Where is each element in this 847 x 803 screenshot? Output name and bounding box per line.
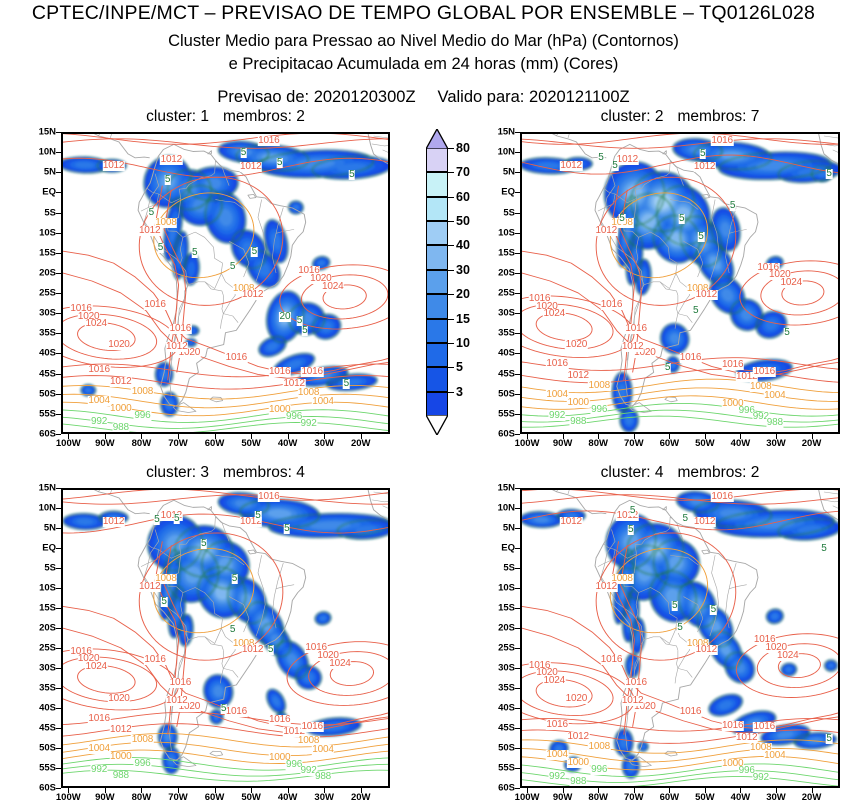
y-axis-tick xyxy=(56,788,61,789)
isobar-label-1016: 1016 xyxy=(88,365,110,375)
y-axis-label-15N: 15N xyxy=(39,127,56,138)
panel-title-cluster-2: cluster: 2membros: 7 xyxy=(520,108,840,126)
x-axis-label-100W: 100W xyxy=(515,792,540,803)
colorbar-label-30: 30 xyxy=(456,263,470,277)
x-axis-label-100W: 100W xyxy=(56,792,81,803)
colorbar-band-5 xyxy=(426,367,448,391)
colorbar-label-80: 80 xyxy=(456,141,470,155)
isobar-label-1016: 1016 xyxy=(258,492,280,502)
y-axis-label-20S: 20S xyxy=(498,623,515,634)
y-axis-label-10N: 10N xyxy=(39,503,56,514)
colorbar-tick xyxy=(448,343,454,344)
y-axis-label-20S: 20S xyxy=(39,623,56,634)
map-canvas xyxy=(63,490,388,786)
x-axis-label-40W: 40W xyxy=(278,792,298,803)
isobar-label-1016: 1016 xyxy=(721,360,743,370)
cluster-label: cluster: 4 xyxy=(601,464,664,481)
isobar-label-1020: 1020 xyxy=(108,694,130,704)
isobar-label-1004: 1004 xyxy=(88,744,110,754)
y-axis-label-EQ: EQ xyxy=(501,187,515,198)
y-axis-label-35S: 35S xyxy=(498,328,515,339)
y-axis-label-15S: 15S xyxy=(39,603,56,614)
isobar-label-1016: 1016 xyxy=(144,655,166,665)
y-axis-label-60S: 60S xyxy=(39,429,56,440)
isobar-label-1000: 1000 xyxy=(110,752,132,762)
y-axis-tick xyxy=(515,394,520,395)
isobar-label-1008: 1008 xyxy=(131,735,153,745)
chart-subtitle-line2: e Precipitacao Acumulada em 24 horas (mm… xyxy=(0,55,847,74)
map-panel-cluster-4: cluster: 4membros: 210161016101210121008… xyxy=(520,488,840,788)
precip-contour-label: 5 xyxy=(629,506,636,516)
y-axis-label-35S: 35S xyxy=(39,683,56,694)
precip-contour-label: 5 xyxy=(349,170,356,180)
institution-title: CPTEC/INPE/MCT – PREVISAO DE TEMPO GLOBA… xyxy=(0,2,847,25)
x-axis-label-30W: 30W xyxy=(766,792,786,803)
y-axis-tick xyxy=(56,748,61,749)
precip-contour-label: 5 xyxy=(267,645,274,655)
isobar-label-1020: 1020 xyxy=(108,340,130,350)
isobar-label-1016: 1016 xyxy=(268,367,290,377)
y-axis-tick xyxy=(515,333,520,334)
forecast-time-line: Previsao de: 2020120300ZValido para: 202… xyxy=(0,88,847,107)
precip-contour-label: 5 xyxy=(678,214,685,224)
precip-contour-label: 5 xyxy=(255,511,262,521)
y-axis-label-10N: 10N xyxy=(39,147,56,158)
x-axis-label-50W: 50W xyxy=(241,438,261,449)
y-axis-tick xyxy=(56,588,61,589)
y-axis-tick xyxy=(56,434,61,435)
x-axis-label-40W: 40W xyxy=(731,438,751,449)
isobar-label-992: 992 xyxy=(91,765,108,775)
colorbar-tick xyxy=(448,392,454,393)
x-axis-label-70W: 70W xyxy=(624,792,644,803)
x-axis-label-70W: 70W xyxy=(624,438,644,449)
isobar-label-1016: 1016 xyxy=(600,300,622,310)
y-axis-tick xyxy=(515,568,520,569)
x-axis-label-90W: 90W xyxy=(95,438,115,449)
colorbar-arrow-bottom xyxy=(426,415,448,435)
members-label: membros: 4 xyxy=(223,464,305,481)
x-axis-label-70W: 70W xyxy=(168,438,188,449)
y-axis-tick xyxy=(56,488,61,489)
colorbar-band-80 xyxy=(426,148,448,172)
isobar-label-1008: 1008 xyxy=(588,742,610,752)
colorbar-tick xyxy=(448,148,454,149)
y-axis-tick xyxy=(515,414,520,415)
isobar-label-988: 988 xyxy=(570,417,587,427)
y-axis-label-15N: 15N xyxy=(498,127,515,138)
isobar-label-1004: 1004 xyxy=(312,397,334,407)
isobar-label-1012: 1012 xyxy=(621,696,643,706)
precip-contour-label: 5 xyxy=(229,625,236,635)
precip-contour-label: 5 xyxy=(302,326,309,336)
colorbar-tick xyxy=(448,172,454,173)
isobar-label-1012: 1012 xyxy=(595,582,617,592)
precip-contour-label: 5 xyxy=(698,232,705,242)
isobar-label-1012: 1012 xyxy=(110,725,132,735)
precip-contour-label: 5 xyxy=(729,201,736,211)
precip-contour-label: 5 xyxy=(700,149,707,159)
y-axis-label-45S: 45S xyxy=(498,723,515,734)
y-axis-tick xyxy=(515,728,520,729)
colorbar-label-40: 40 xyxy=(456,238,470,252)
map-frame: 1016101610121012100810081004100410001000… xyxy=(520,488,840,788)
y-axis-label-5S: 5S xyxy=(44,563,56,574)
precip-contour-label: 5 xyxy=(276,158,283,168)
isobar-label-988: 988 xyxy=(766,418,783,428)
x-axis-label-20W: 20W xyxy=(802,438,822,449)
y-axis-label-30S: 30S xyxy=(498,308,515,319)
isobar-label-1012: 1012 xyxy=(567,371,589,381)
precip-contour-label: 5 xyxy=(612,161,619,171)
x-axis-label-40W: 40W xyxy=(278,438,298,449)
y-axis-tick xyxy=(56,253,61,254)
colorbar-tick xyxy=(448,319,454,320)
colorbar-label-60: 60 xyxy=(456,190,470,204)
isobar-label-1004: 1004 xyxy=(312,745,334,755)
y-axis-tick xyxy=(515,172,520,173)
colorbar-tick xyxy=(448,197,454,198)
y-axis-label-EQ: EQ xyxy=(42,187,56,198)
isobar-label-1012: 1012 xyxy=(160,155,182,165)
forecast-from-label: Previsao de: 2020120300Z xyxy=(217,88,415,106)
y-axis-label-10S: 10S xyxy=(498,227,515,238)
precip-contour-label: 5 xyxy=(826,169,833,179)
y-axis-tick xyxy=(56,688,61,689)
isobar-label-1016: 1016 xyxy=(258,136,280,146)
isobar-label-1016: 1016 xyxy=(268,715,290,725)
isobar-label-1012: 1012 xyxy=(693,162,715,172)
chart-subtitle-line1: Cluster Medio para Pressao ao Nivel Medi… xyxy=(0,32,847,51)
y-axis-tick xyxy=(515,293,520,294)
isobar-label-1000: 1000 xyxy=(567,758,589,768)
panel-title-cluster-3: cluster: 3membros: 4 xyxy=(61,464,390,482)
panel-title-cluster-1: cluster: 1membros: 2 xyxy=(61,108,390,126)
colorbar-label-10: 10 xyxy=(456,336,470,350)
y-axis-label-50S: 50S xyxy=(498,388,515,399)
colorbar-band-60 xyxy=(426,197,448,221)
isobar-label-1016: 1016 xyxy=(711,492,733,502)
y-axis-label-30S: 30S xyxy=(39,663,56,674)
y-axis-tick xyxy=(56,353,61,354)
y-axis-tick xyxy=(515,748,520,749)
precip-contour-label: 5 xyxy=(173,514,180,524)
y-axis-tick xyxy=(56,394,61,395)
isobar-label-1016: 1016 xyxy=(753,367,775,377)
x-axis-label-40W: 40W xyxy=(731,792,751,803)
isobar-label-1016: 1016 xyxy=(625,678,647,688)
y-axis-label-15S: 15S xyxy=(498,603,515,614)
precip-contour-label: 5 xyxy=(251,247,258,257)
precip-contour-label: 5 xyxy=(164,175,171,185)
y-axis-tick xyxy=(515,434,520,435)
y-axis-tick xyxy=(515,528,520,529)
y-axis-label-55S: 55S xyxy=(39,408,56,419)
y-axis-tick xyxy=(56,152,61,153)
y-axis-label-40S: 40S xyxy=(498,702,515,713)
colorbar-band-50 xyxy=(426,221,448,245)
y-axis-tick xyxy=(515,628,520,629)
y-axis-label-10N: 10N xyxy=(498,503,515,514)
colorbar-band-70 xyxy=(426,172,448,196)
y-axis-tick xyxy=(515,588,520,589)
isobar-label-996: 996 xyxy=(134,759,151,769)
isobar-label-1012: 1012 xyxy=(166,342,188,352)
x-axis-label-30W: 30W xyxy=(314,792,334,803)
precip-contour-label: 5 xyxy=(619,214,626,224)
isobar-label-1004: 1004 xyxy=(546,390,568,400)
isobar-label-1012: 1012 xyxy=(567,732,589,742)
isobar-label-1016: 1016 xyxy=(546,720,568,730)
isobar-label-1016: 1016 xyxy=(600,655,622,665)
isobar-label-1004: 1004 xyxy=(546,750,568,760)
y-axis-label-5S: 5S xyxy=(44,207,56,218)
x-axis-label-60W: 60W xyxy=(660,792,680,803)
y-axis-label-10S: 10S xyxy=(39,582,56,593)
isobar-label-1012: 1012 xyxy=(166,696,188,706)
y-axis-label-40S: 40S xyxy=(39,702,56,713)
colorbar-label-5: 5 xyxy=(456,360,463,374)
isobar-label-1016: 1016 xyxy=(679,707,701,717)
map-panel-cluster-1: cluster: 1membros: 210161016101210121008… xyxy=(61,132,390,434)
isobar-label-1024: 1024 xyxy=(85,662,107,672)
y-axis-label-EQ: EQ xyxy=(42,543,56,554)
x-axis-label-100W: 100W xyxy=(56,438,81,449)
map-frame: 1016101610121012100810081004100410001000… xyxy=(61,132,390,434)
isobar-label-996: 996 xyxy=(591,765,608,775)
members-label: membros: 2 xyxy=(678,464,760,481)
y-axis-label-25S: 25S xyxy=(498,288,515,299)
y-axis-label-50S: 50S xyxy=(39,743,56,754)
y-axis-label-EQ: EQ xyxy=(501,543,515,554)
y-axis-tick xyxy=(515,668,520,669)
isobar-label-992: 992 xyxy=(549,411,566,421)
precip-contour-label: 20 xyxy=(279,312,291,322)
isobar-label-1016: 1016 xyxy=(301,722,323,732)
x-axis-label-50W: 50W xyxy=(695,438,715,449)
y-axis-tick xyxy=(56,548,61,549)
y-axis-label-35S: 35S xyxy=(498,683,515,694)
y-axis-tick xyxy=(56,213,61,214)
map-frame: 1016101610121012100810081004100410001000… xyxy=(61,488,390,788)
y-axis-tick xyxy=(515,253,520,254)
y-axis-label-45S: 45S xyxy=(498,368,515,379)
x-axis-label-20W: 20W xyxy=(351,792,371,803)
precip-contour-label: 5 xyxy=(677,623,684,633)
isobar-label-1024: 1024 xyxy=(543,309,565,319)
x-axis-label-60W: 60W xyxy=(660,438,680,449)
colorbar-label-20: 20 xyxy=(456,287,470,301)
isobar-label-1024: 1024 xyxy=(777,651,799,661)
colorbar-label-15: 15 xyxy=(456,312,470,326)
isobar-label-1016: 1016 xyxy=(301,367,323,377)
y-axis-tick xyxy=(56,668,61,669)
precip-contour-label: 5 xyxy=(192,248,199,258)
precip-contour-label: 5 xyxy=(148,208,155,218)
colorbar-label-50: 50 xyxy=(456,214,470,228)
isobar-label-1012: 1012 xyxy=(138,582,160,592)
cluster-label: cluster: 2 xyxy=(601,108,664,125)
y-axis-label-10S: 10S xyxy=(498,582,515,593)
members-label: membros: 2 xyxy=(223,108,305,125)
isobar-label-1012: 1012 xyxy=(560,517,582,527)
y-axis-tick xyxy=(515,788,520,789)
y-axis-tick xyxy=(515,708,520,709)
precip-contour-label: 5 xyxy=(231,574,238,584)
precip-contour-label: 5 xyxy=(826,734,833,744)
isobar-label-992: 992 xyxy=(300,419,317,429)
colorbar-tick xyxy=(448,221,454,222)
y-axis-label-15N: 15N xyxy=(498,483,515,494)
isobar-label-988: 988 xyxy=(570,777,587,787)
x-axis-label-90W: 90W xyxy=(553,438,573,449)
cluster-label: cluster: 3 xyxy=(146,464,209,481)
precip-contour-label: 5 xyxy=(229,262,236,272)
isobar-label-1016: 1016 xyxy=(144,300,166,310)
y-axis-tick xyxy=(56,648,61,649)
isobar-label-992: 992 xyxy=(91,417,108,427)
y-axis-label-15S: 15S xyxy=(498,247,515,258)
precip-contour-label: 5 xyxy=(710,605,717,615)
x-axis-label-30W: 30W xyxy=(314,438,334,449)
colorbar-label-70: 70 xyxy=(456,165,470,179)
isobar-label-1012: 1012 xyxy=(110,377,132,387)
y-axis-tick xyxy=(56,708,61,709)
isobar-label-1016: 1016 xyxy=(546,359,568,369)
isobar-label-1012: 1012 xyxy=(241,645,263,655)
y-axis-tick xyxy=(56,132,61,133)
y-axis-tick xyxy=(515,688,520,689)
precip-contour-label: 5 xyxy=(682,514,689,524)
precip-contour-label: 5 xyxy=(784,328,791,338)
y-axis-tick xyxy=(56,233,61,234)
isobar-label-1012: 1012 xyxy=(621,342,643,352)
precip-contour-label: 5 xyxy=(671,601,678,611)
isobar-label-1008: 1008 xyxy=(588,381,610,391)
precipitation-colorbar: 35101520304050607080 xyxy=(426,148,448,416)
y-axis-label-25S: 25S xyxy=(498,642,515,653)
y-axis-tick xyxy=(515,608,520,609)
y-axis-label-30S: 30S xyxy=(39,308,56,319)
isobar-label-1012: 1012 xyxy=(693,517,715,527)
isobar-label-1024: 1024 xyxy=(329,659,351,669)
y-axis-tick xyxy=(515,273,520,274)
y-axis-tick xyxy=(515,313,520,314)
x-axis-label-80W: 80W xyxy=(132,792,152,803)
isobar-label-1012: 1012 xyxy=(102,517,124,527)
isobar-label-1004: 1004 xyxy=(764,391,786,401)
y-axis-label-10N: 10N xyxy=(498,147,515,158)
isobar-label-1016: 1016 xyxy=(88,714,110,724)
y-axis-tick xyxy=(56,568,61,569)
precip-contour-label: 5 xyxy=(157,243,164,253)
x-axis-label-80W: 80W xyxy=(588,792,608,803)
colorbar-tick xyxy=(448,270,454,271)
y-axis-label-25S: 25S xyxy=(39,642,56,653)
y-axis-label-35S: 35S xyxy=(39,328,56,339)
isobar-label-988: 988 xyxy=(112,771,129,781)
precip-contour-label: 5 xyxy=(201,539,208,549)
forecast-chart-page: CPTEC/INPE/MCT – PREVISAO DE TEMPO GLOBA… xyxy=(0,0,847,803)
isobar-label-1012: 1012 xyxy=(616,155,638,165)
cluster-label: cluster: 1 xyxy=(146,108,209,125)
y-axis-label-55S: 55S xyxy=(39,762,56,773)
y-axis-tick xyxy=(56,333,61,334)
panel-title-cluster-4: cluster: 4membros: 2 xyxy=(520,464,840,482)
isobar-label-1016: 1016 xyxy=(625,324,647,334)
y-axis-tick xyxy=(56,273,61,274)
precip-contour-label: 5 xyxy=(693,306,700,316)
y-axis-label-55S: 55S xyxy=(498,408,515,419)
y-axis-label-5N: 5N xyxy=(44,522,56,533)
y-axis-label-20S: 20S xyxy=(498,267,515,278)
y-axis-label-15N: 15N xyxy=(39,483,56,494)
y-axis-tick xyxy=(515,233,520,234)
x-axis-label-80W: 80W xyxy=(132,438,152,449)
y-axis-label-60S: 60S xyxy=(39,783,56,794)
y-axis-tick xyxy=(56,728,61,729)
y-axis-label-60S: 60S xyxy=(498,783,515,794)
y-axis-tick xyxy=(56,608,61,609)
isobar-label-1016: 1016 xyxy=(753,722,775,732)
y-axis-label-60S: 60S xyxy=(498,429,515,440)
isobar-label-988: 988 xyxy=(314,772,331,782)
colorbar-band-10 xyxy=(426,343,448,367)
y-axis-tick xyxy=(56,508,61,509)
y-axis-tick xyxy=(56,528,61,529)
isobar-label-1012: 1012 xyxy=(138,226,160,236)
isobar-label-1016: 1016 xyxy=(711,136,733,146)
isobar-label-1024: 1024 xyxy=(322,282,344,292)
isobar-label-1012: 1012 xyxy=(560,161,582,171)
y-axis-label-40S: 40S xyxy=(39,348,56,359)
isobar-label-1016: 1016 xyxy=(225,707,247,717)
precip-contour-label: 5 xyxy=(628,525,635,535)
y-axis-tick xyxy=(515,213,520,214)
colorbar-band-20 xyxy=(426,294,448,318)
y-axis-label-5N: 5N xyxy=(44,167,56,178)
y-axis-tick xyxy=(56,374,61,375)
y-axis-label-5S: 5S xyxy=(503,563,515,574)
isobar-label-1016: 1016 xyxy=(169,324,191,334)
isobar-label-1008: 1008 xyxy=(131,387,153,397)
y-axis-tick xyxy=(515,508,520,509)
y-axis-tick xyxy=(56,414,61,415)
isobar-label-1024: 1024 xyxy=(85,319,107,329)
isobar-label-1024: 1024 xyxy=(543,676,565,686)
isobar-label-1016: 1016 xyxy=(169,678,191,688)
y-axis-label-5S: 5S xyxy=(503,207,515,218)
precip-contour-label: 5 xyxy=(161,597,168,607)
map-panel-cluster-2: cluster: 2membros: 710161016101210121008… xyxy=(520,132,840,434)
y-axis-label-30S: 30S xyxy=(498,663,515,674)
y-axis-label-50S: 50S xyxy=(498,743,515,754)
x-axis-label-60W: 60W xyxy=(205,792,225,803)
colorbar-band-40 xyxy=(426,245,448,269)
isobar-label-1004: 1004 xyxy=(88,396,110,406)
precip-contour-label: 5 xyxy=(821,544,828,554)
isobar-label-1000: 1000 xyxy=(567,398,589,408)
isobar-label-1012: 1012 xyxy=(695,290,717,300)
isobar-label-1012: 1012 xyxy=(241,290,263,300)
colorbar-band-30 xyxy=(426,270,448,294)
x-axis-label-20W: 20W xyxy=(351,438,371,449)
x-axis-label-60W: 60W xyxy=(205,438,225,449)
y-axis-label-50S: 50S xyxy=(39,388,56,399)
isobar-label-1024: 1024 xyxy=(780,278,802,288)
precip-contour-label: 5 xyxy=(220,704,227,714)
y-axis-tick xyxy=(515,768,520,769)
